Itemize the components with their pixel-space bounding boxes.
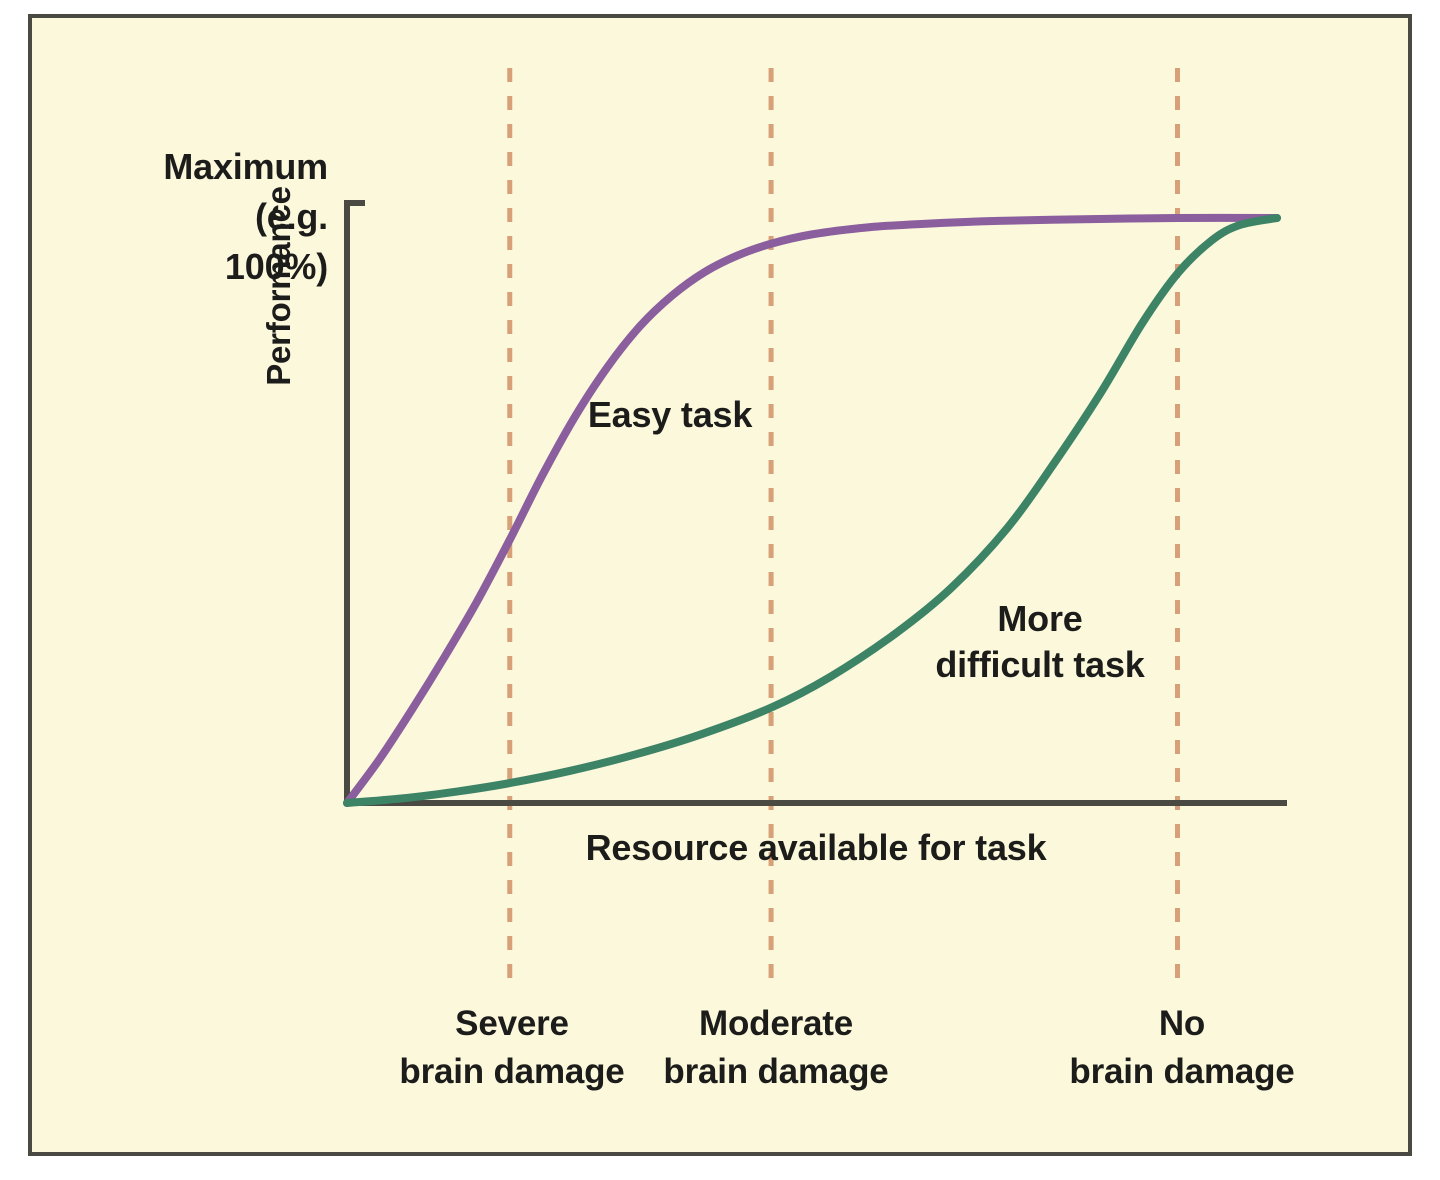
x-tick-label-2-line-1: brain damage <box>1002 1048 1362 1096</box>
x-axis-title: Resource available for task <box>346 827 1286 869</box>
x-tick-label-moderate-brain-damage: Moderatebrain damage <box>596 1000 956 1096</box>
series-label-easy-task-line-0: Easy task <box>500 392 840 438</box>
series-curve-easy-task <box>347 218 1277 803</box>
x-tick-label-no-brain-damage: Nobrain damage <box>1002 1000 1362 1096</box>
series-curve-more-difficult-task <box>347 218 1277 803</box>
x-tick-label-1-line-0: Moderate <box>596 1000 956 1048</box>
y-axis-title: Performance <box>257 136 301 436</box>
series-label-easy-task: Easy task <box>500 392 840 438</box>
series-label-more-difficult-task: Moredifficult task <box>860 596 1220 688</box>
x-tick-label-1-line-1: brain damage <box>596 1048 956 1096</box>
series-label-more-difficult-task-line-0: More <box>860 596 1220 642</box>
x-tick-label-2-line-0: No <box>1002 1000 1362 1048</box>
y-axis-line <box>347 203 365 803</box>
series-label-more-difficult-task-line-1: difficult task <box>860 642 1220 688</box>
